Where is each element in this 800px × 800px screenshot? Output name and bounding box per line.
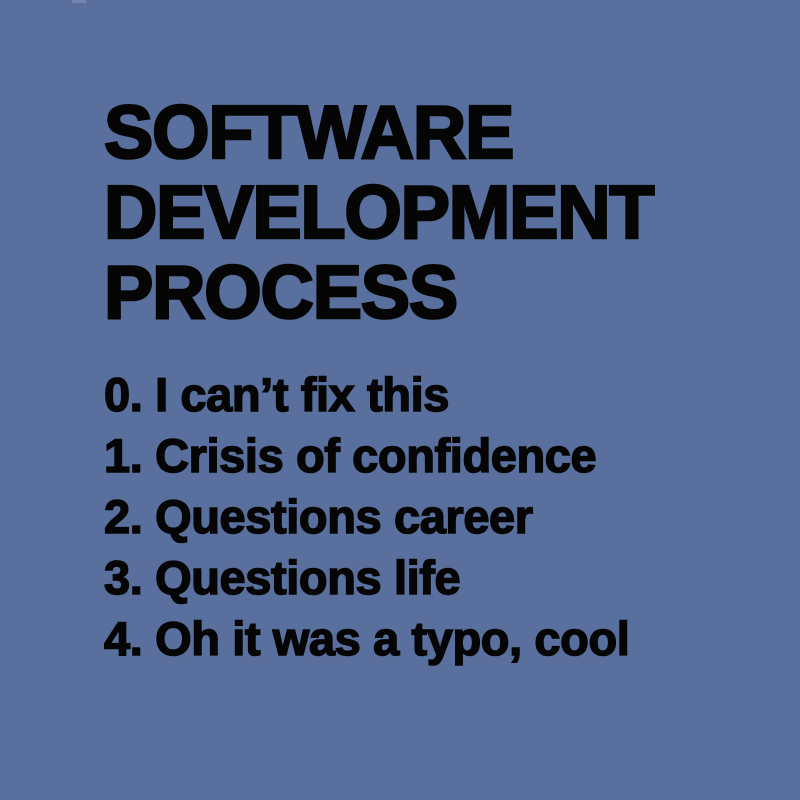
list-item-index: 1. [104,429,142,482]
page-title: SOFTWARE DEVELOPMENT PROCESS [104,92,764,332]
meme-poster: SOFTWARE DEVELOPMENT PROCESS 0. I can’t … [0,0,800,800]
list-item-index: 4. [104,612,142,665]
list-item-index: 3. [104,551,142,604]
list-item-label: Questions career [155,490,533,543]
list-item: 0. I can’t fix this [104,364,764,425]
list-item: 2. Questions career [104,486,764,547]
list-item: 1. Crisis of confidence [104,425,764,486]
list-item-index: 0. [104,368,142,421]
top-edge-artifact [72,0,86,3]
process-step-list: 0. I can’t fix this 1. Crisis of confide… [104,364,764,669]
poster-content: SOFTWARE DEVELOPMENT PROCESS 0. I can’t … [104,92,764,669]
list-item-label: Oh it was a typo, cool [155,612,629,665]
list-item-label: Questions life [155,551,460,604]
list-item-label: Crisis of confidence [155,429,596,482]
title-line-3: PROCESS [104,252,754,332]
title-line-1: SOFTWARE [104,92,754,172]
list-item: 3. Questions life [104,547,764,608]
title-line-2: DEVELOPMENT [104,172,754,252]
list-item-label: I can’t fix this [155,368,449,421]
list-item-index: 2. [104,490,142,543]
list-item: 4. Oh it was a typo, cool [104,608,764,669]
